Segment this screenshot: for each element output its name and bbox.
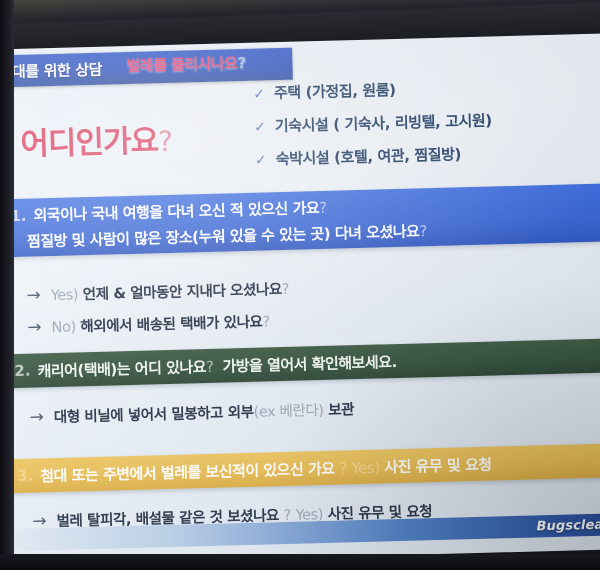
photographed-projection-screen: 빈대를 위한 상담 벌레를 물리시나요? 어디인가요? ✓ 주택 (가정집, 원…	[0, 0, 600, 570]
presentation-slide: 빈대를 위한 상담 벌레를 물리시나요? 어디인가요? ✓ 주택 (가정집, 원…	[0, 33, 600, 566]
checklist-item-label: 숙박시설 (호텔, 여관, 찜질방)	[275, 143, 461, 169]
note-3-text: 대형 비닐에 넣어서 밀봉하고 외부(ex 베란다) 보관	[54, 398, 355, 427]
banner-subtitle: 벌레를 물리시나요?	[126, 52, 246, 76]
brand-logo: Bugsclean	[536, 517, 600, 534]
section-3-banner: 3. 첨대 또는 주변에서 벌레를 보신적이 있으신 가요 ? Yes) 사진 …	[0, 442, 600, 493]
note-row-2: → No) 해외에서 배송된 택배가 있나요?	[27, 310, 270, 337]
note-row-3: → 대형 비닐에 넣어서 밀봉하고 외부(ex 베란다) 보관	[29, 398, 354, 427]
section-2-number: 2.	[14, 362, 31, 380]
location-checklist: ✓ 주택 (가정집, 원룸) ✓ 기숙시설 ( 기숙사, 리빙텔, 고시원) ✓…	[253, 76, 493, 181]
checklist-item-label: 기숙시설 ( 기숙사, 리빙텔, 고시원)	[275, 109, 492, 136]
check-icon: ✓	[254, 119, 266, 135]
page-title: 어디인가요?	[20, 115, 173, 164]
section-3-number: 3.	[17, 467, 34, 485]
list-item: ✓ 기숙시설 ( 기숙사, 리빙텔, 고시원)	[254, 109, 492, 136]
banner-subtitle-question-mark: ?	[237, 54, 246, 72]
section-3-text: 첨대 또는 주변에서 벌레를 보신적이 있으신 가요 ? Yes) 사진 유무 …	[40, 453, 492, 486]
section-2-banner: 2. 캐리어(택배)는 어디 있나요?가방을 열어서 확인해보세요.	[0, 337, 600, 388]
note-2-text: No) 해외에서 배송된 택배가 있나요?	[51, 310, 270, 337]
checklist-item-label: 주택 (가정집, 원룸)	[274, 79, 396, 103]
note-row-1: → Yes) 언제 & 얼마동안 지내다 오셨나요?	[26, 278, 289, 306]
banner-title: 빈대를 위한 상담	[0, 58, 102, 82]
section-1-question-1: 외국이나 국내 여행을 다녀 오신 적 있으신 가요?	[33, 196, 327, 225]
section-1-line-1: 1. 외국이나 국내 여행을 다녀 오신 적 있으신 가요?	[0, 196, 327, 226]
screen-left-bezel	[0, 0, 14, 570]
list-item: ✓ 주택 (가정집, 원룸)	[253, 76, 491, 103]
screen-bottom-bezel	[0, 554, 600, 570]
section-1-question-2: 찜질방 및 사람이 많은 장소(누워 있을 수 있는 곳) 다녀 오셨나요?	[27, 220, 427, 251]
check-icon: ✓	[255, 152, 267, 168]
check-icon: ✓	[253, 86, 265, 102]
arrow-right-icon: →	[27, 317, 42, 337]
list-item: ✓ 숙박시설 (호텔, 여관, 찜질방)	[255, 142, 493, 169]
page-title-text: 어디인가요	[20, 123, 159, 163]
section-1-line-2: 찜질방 및 사람이 많은 장소(누워 있을 수 있는 곳) 다녀 오셨나요?	[27, 220, 427, 251]
section-2-text: 캐리어(택배)는 어디 있나요?가방을 열어서 확인해보세요.	[37, 351, 397, 381]
banner-subtitle-text: 벌레를 물리시나요	[126, 54, 238, 75]
section-1-banner: 1. 외국이나 국내 여행을 다녀 오신 적 있으신 가요? 찜질방 및 사람이…	[0, 182, 600, 257]
page-title-question-mark: ?	[158, 125, 173, 158]
note-1-text: Yes) 언제 & 얼마동안 지내다 오셨나요?	[50, 278, 289, 305]
slide-rotation-wrapper: 빈대를 위한 상담 벌레를 물리시나요? 어디인가요? ✓ 주택 (가정집, 원…	[0, 33, 600, 570]
arrow-right-icon: →	[26, 285, 41, 305]
arrow-right-icon: →	[29, 407, 44, 427]
